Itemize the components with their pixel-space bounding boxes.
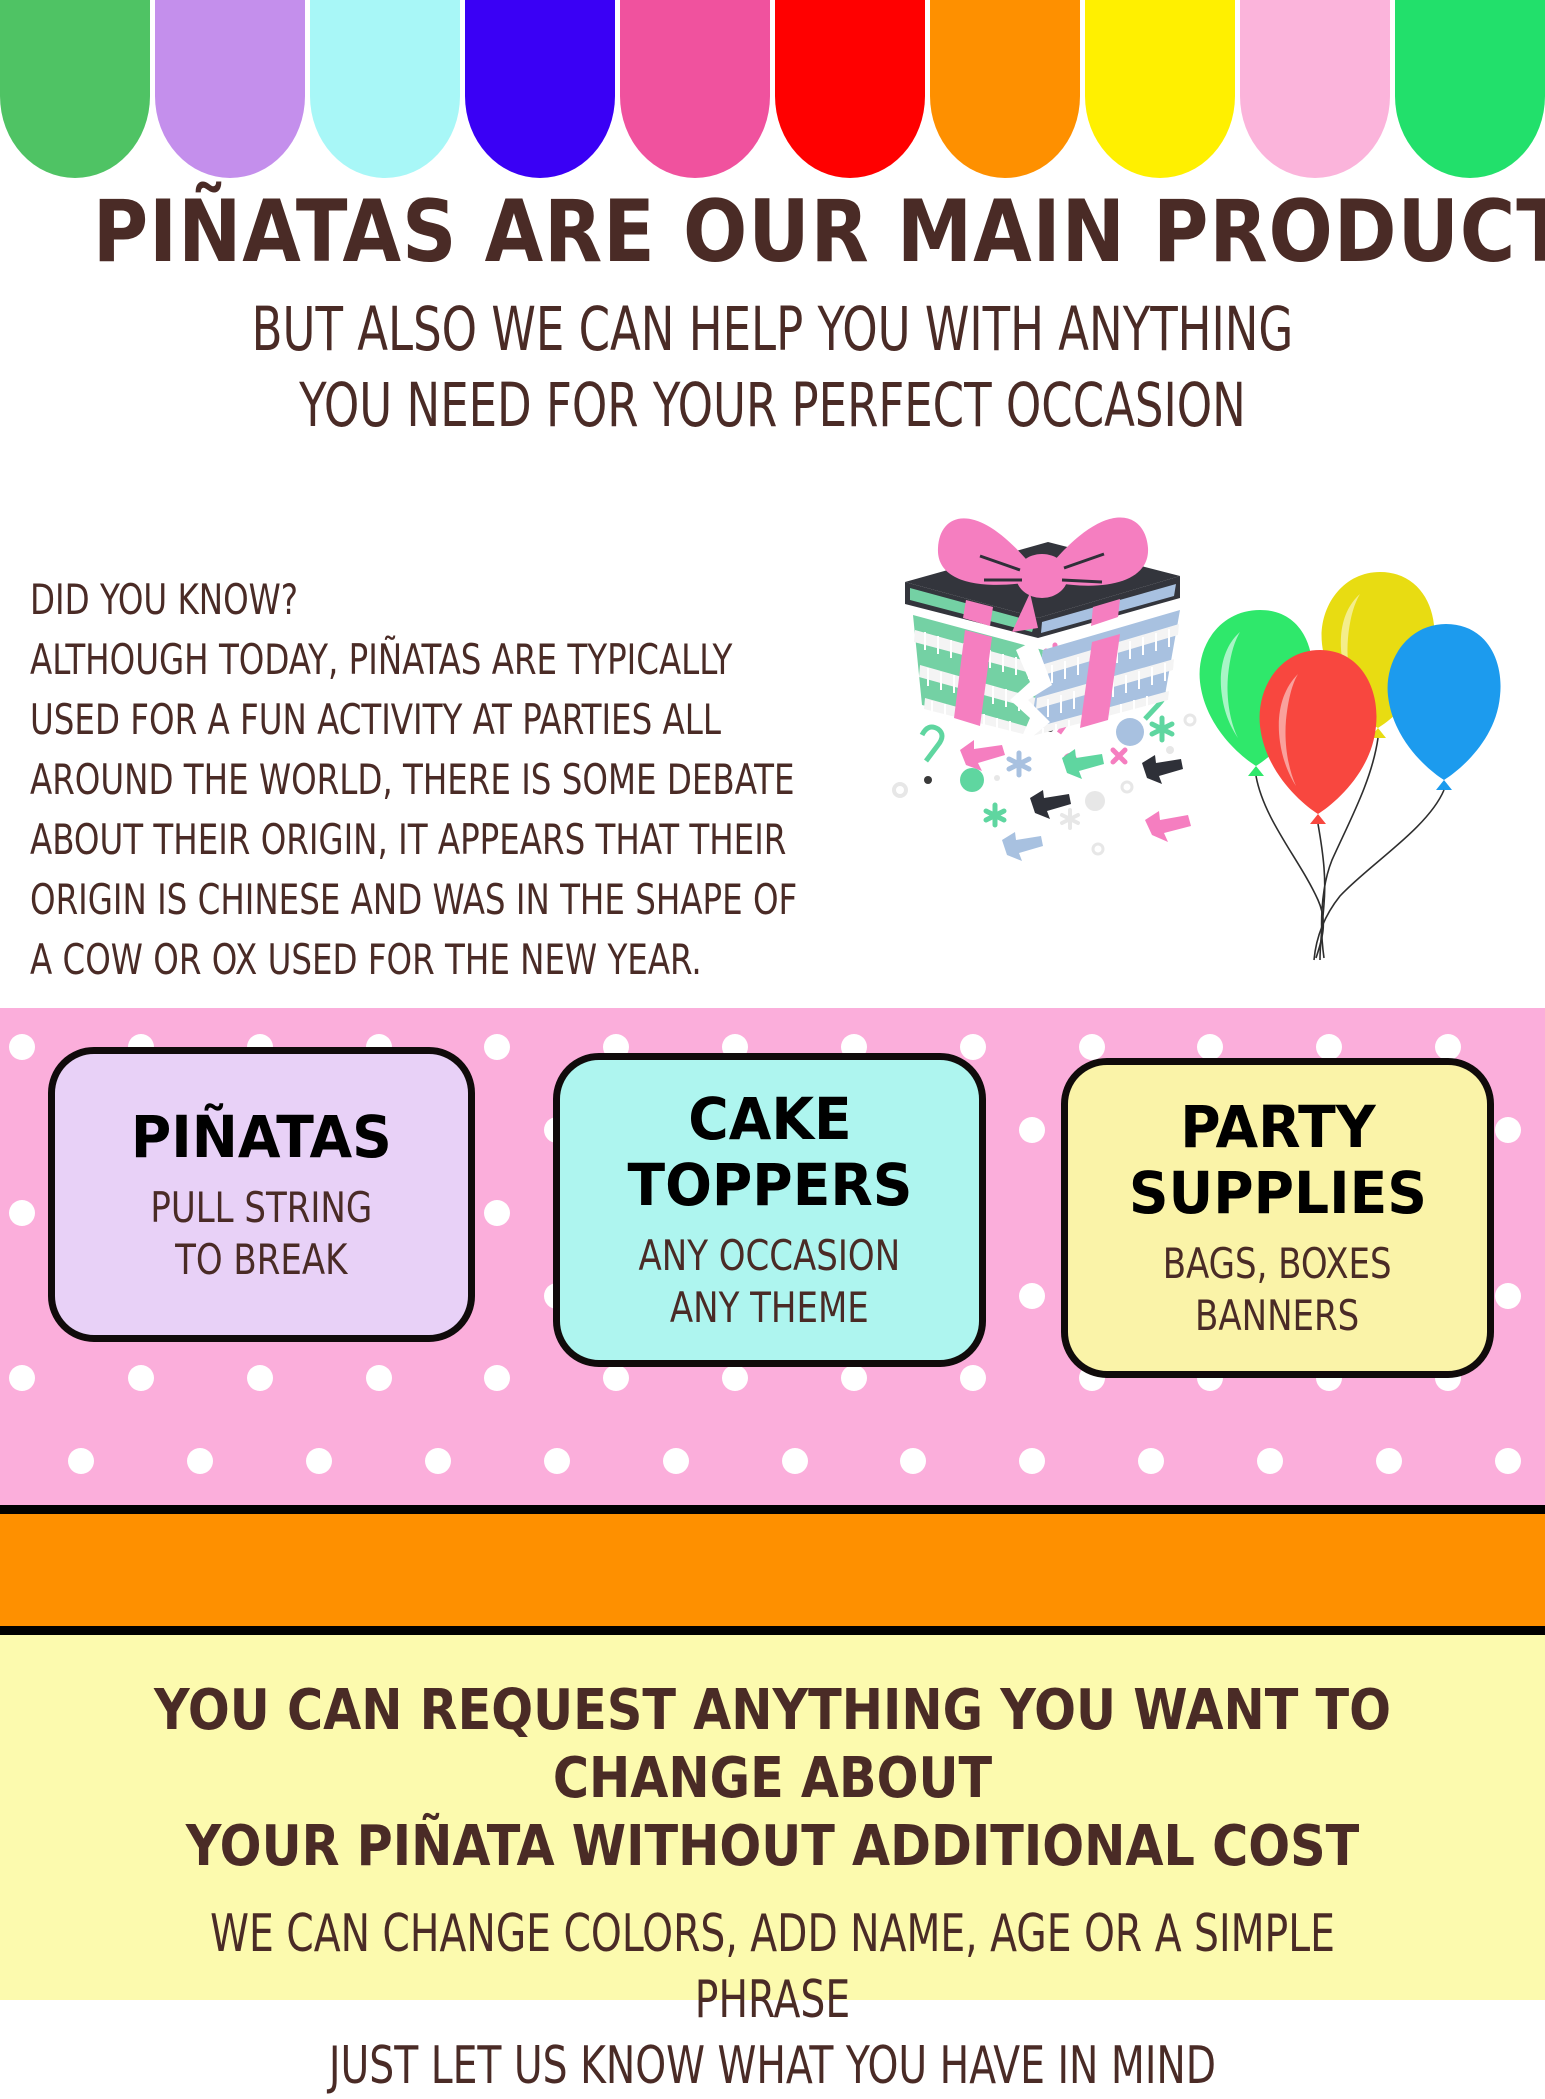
page-subtitle: BUT ALSO WE CAN HELP YOU WITH ANYTHING Y… — [139, 292, 1406, 444]
service-card-pinatas[interactable]: PIÑATASPULL STRING TO BREAK — [48, 1047, 475, 1342]
service-card-cake-toppers[interactable]: CAKE TOPPERSANY OCCASION ANY THEME — [553, 1053, 986, 1367]
party-illustration — [880, 460, 1540, 980]
scallop-4 — [465, 0, 615, 178]
service-cards-row: PIÑATASPULL STRING TO BREAKCAKE TOPPERSA… — [0, 1008, 1545, 1505]
scallop-6 — [775, 0, 925, 178]
service-card-subtitle: ANY OCCASION ANY THEME — [639, 1230, 901, 1334]
scallop-8 — [1085, 0, 1235, 178]
scallop-5 — [620, 0, 770, 178]
service-card-subtitle: BAGS, BOXES BANNERS — [1163, 1238, 1392, 1342]
red-balloon — [1260, 650, 1377, 824]
balloon-group — [1200, 572, 1501, 960]
scallop-7 — [930, 0, 1080, 178]
page-title: PIÑATAS ARE OUR MAIN PRODUCT — [93, 186, 1453, 278]
services-section: PIÑATASPULL STRING TO BREAKCAKE TOPPERSA… — [0, 1008, 1545, 1505]
footer-headline: YOU CAN REQUEST ANYTHING YOU WANT TO CHA… — [93, 1635, 1453, 1881]
orange-divider-band — [0, 1505, 1545, 1635]
footer-section: YOU CAN REQUEST ANYTHING YOU WANT TO CHA… — [0, 1635, 1545, 2000]
scallop-2 — [155, 0, 305, 178]
header-block: PIÑATAS ARE OUR MAIN PRODUCT BUT ALSO WE… — [0, 186, 1545, 444]
footer-subline: WE CAN CHANGE COLORS, ADD NAME, AGE OR A… — [124, 1881, 1422, 2099]
scallop-banner — [0, 0, 1545, 178]
service-card-subtitle: PULL STRING TO BREAK — [151, 1182, 373, 1286]
service-card-title: PIÑATAS — [131, 1104, 392, 1170]
scallop-10 — [1395, 0, 1545, 178]
service-card-title: CAKE TOPPERS — [627, 1086, 912, 1218]
scallop-9 — [1240, 0, 1390, 178]
blue-balloon — [1388, 624, 1501, 790]
service-card-party-supplies[interactable]: PARTY SUPPLIESBAGS, BOXES BANNERS — [1061, 1058, 1494, 1378]
did-you-know-paragraph: DID YOU KNOW? ALTHOUGH TODAY, PIÑATAS AR… — [30, 570, 813, 990]
service-card-title: PARTY SUPPLIES — [1128, 1094, 1426, 1226]
scallop-3 — [310, 0, 460, 178]
scallop-1 — [0, 0, 150, 178]
